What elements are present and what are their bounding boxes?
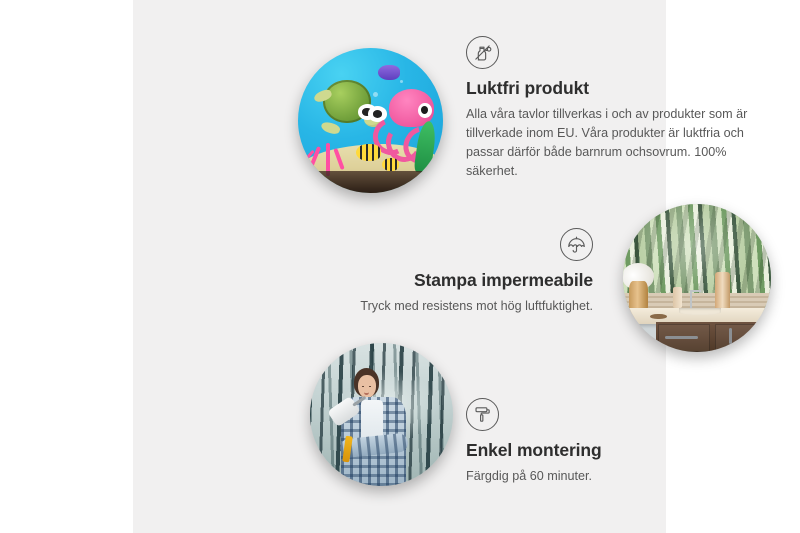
coral-icon xyxy=(307,132,351,176)
content-panel: Luktfri produkt Alla våra tavlor tillver… xyxy=(133,0,666,533)
screenshot-stage: Luktfri produkt Alla våra tavlor tillver… xyxy=(0,0,800,533)
octopus-eye xyxy=(418,103,432,118)
foreground-shadow xyxy=(298,171,443,193)
underwater-scene-art xyxy=(298,48,443,193)
woman-smile xyxy=(364,390,369,395)
coral-branch xyxy=(334,148,345,170)
forest-scene-art xyxy=(310,343,453,486)
bathroom-scene-art xyxy=(623,204,771,352)
soap-dispenser xyxy=(715,272,730,310)
feature-description: Färgdig på 60 minuter. xyxy=(466,467,736,486)
feature-waterproof: Stampa impermeabile Tryck med resistens … xyxy=(358,228,593,316)
feature-title: Luktfri produkt xyxy=(466,78,751,100)
underwater-cartoon-photo xyxy=(298,48,443,193)
paint-roller-icon xyxy=(466,398,499,431)
soap-bottle xyxy=(673,287,682,308)
feature-odourless: Luktfri produkt Alla våra tavlor tillver… xyxy=(466,36,751,181)
umbrella-icon xyxy=(560,228,593,261)
woman-figure xyxy=(333,366,416,486)
feature-description: Tryck med resistens mot hög luftfuktighe… xyxy=(358,297,593,316)
yellow-fish-icon xyxy=(356,144,381,161)
coral-branch xyxy=(309,146,321,168)
sink-basin xyxy=(679,308,720,315)
door-handle xyxy=(729,328,732,343)
feature-title: Enkel montering xyxy=(466,440,736,462)
feature-title: Stampa impermeabile xyxy=(358,270,593,292)
sea-turtle-icon xyxy=(318,77,382,129)
vanity-cabinet xyxy=(656,322,771,352)
faucet-icon xyxy=(690,290,692,308)
bathroom-vanity-photo xyxy=(623,204,771,352)
drawer-handle xyxy=(665,336,698,339)
no-fragrance-icon xyxy=(466,36,499,69)
bubble-icon xyxy=(400,80,403,83)
yellow-fish-icon xyxy=(382,158,399,171)
cabinet-door xyxy=(715,324,769,352)
woman-paint-roller-forest-photo xyxy=(310,343,453,486)
feature-assembly: Enkel montering Färgdig på 60 minuter. xyxy=(466,398,736,486)
feature-description: Alla våra tavlor tillverkas i och av pro… xyxy=(466,105,751,182)
